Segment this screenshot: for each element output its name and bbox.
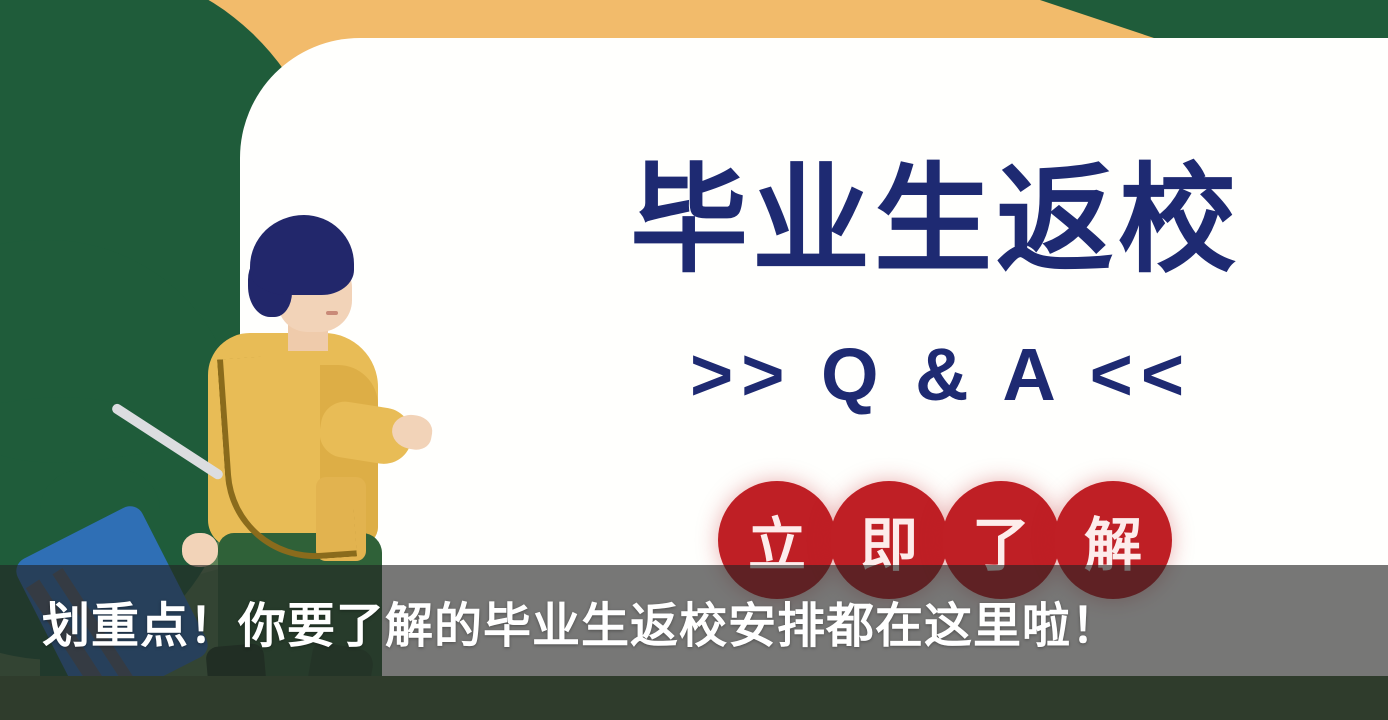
hair-icon xyxy=(250,215,354,295)
bottom-strip xyxy=(0,676,1388,720)
hand-back-shape xyxy=(182,533,218,567)
caption-text: 划重点！你要了解的毕业生返校安排都在这里啦！ xyxy=(0,586,1120,656)
caption-bar: 划重点！你要了解的毕业生返校安排都在这里啦！ xyxy=(0,565,1388,676)
page-title: 毕业生返校 xyxy=(630,160,1310,284)
mouth-shape xyxy=(326,311,338,315)
qa-subtitle: >> Q & A << xyxy=(690,338,1230,412)
graduate-return-poster: 毕业生返校 >> Q & A << 立 即 了 解 划重点！你要了解的毕业生返校… xyxy=(0,0,1388,720)
